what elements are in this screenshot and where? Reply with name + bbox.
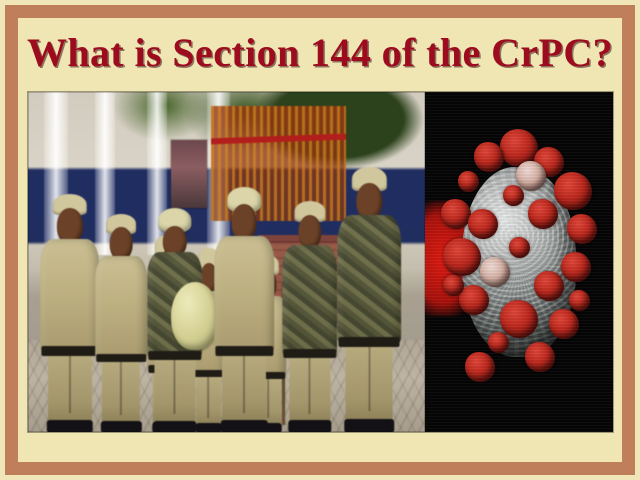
- spike-protein: [459, 285, 489, 315]
- police-officer: [40, 194, 100, 432]
- spike-protein: [516, 161, 546, 191]
- police-officer-with-vest: [338, 167, 402, 432]
- spike-protein: [528, 199, 558, 229]
- poster-frame: What is Section 144 of the CrPC?: [0, 0, 640, 480]
- police-officer-with-vest: [282, 201, 338, 432]
- spike-protein: [441, 199, 471, 229]
- riot-helmet-held: [171, 282, 219, 350]
- police-photo: [28, 92, 425, 432]
- spike-protein: [500, 300, 538, 338]
- spike-protein: [567, 214, 597, 244]
- spike-protein: [525, 342, 555, 372]
- coronavirus-image: [425, 92, 613, 432]
- poster-canvas: What is Section 144 of the CrPC?: [18, 18, 622, 462]
- spike-protein: [534, 271, 564, 301]
- spike-protein: [443, 275, 464, 296]
- spike-protein: [549, 309, 579, 339]
- spike-protein: [458, 171, 479, 192]
- page-title: What is Section 144 of the CrPC?: [18, 28, 622, 78]
- wall-poster: [171, 140, 207, 208]
- spike-protein: [509, 237, 530, 258]
- spike-protein: [443, 238, 481, 276]
- spike-protein: [474, 142, 504, 172]
- spike-protein: [561, 252, 591, 282]
- police-officer: [95, 214, 147, 432]
- spike-protein: [468, 209, 498, 239]
- spike-protein: [554, 172, 592, 210]
- police-officer: [215, 187, 275, 432]
- spike-protein: [480, 257, 510, 287]
- spike-protein: [488, 332, 509, 353]
- image-collage: [28, 92, 613, 432]
- spike-protein: [569, 290, 590, 311]
- virus-particle: [444, 143, 594, 381]
- spike-protein: [465, 352, 495, 382]
- spike-protein: [503, 185, 524, 206]
